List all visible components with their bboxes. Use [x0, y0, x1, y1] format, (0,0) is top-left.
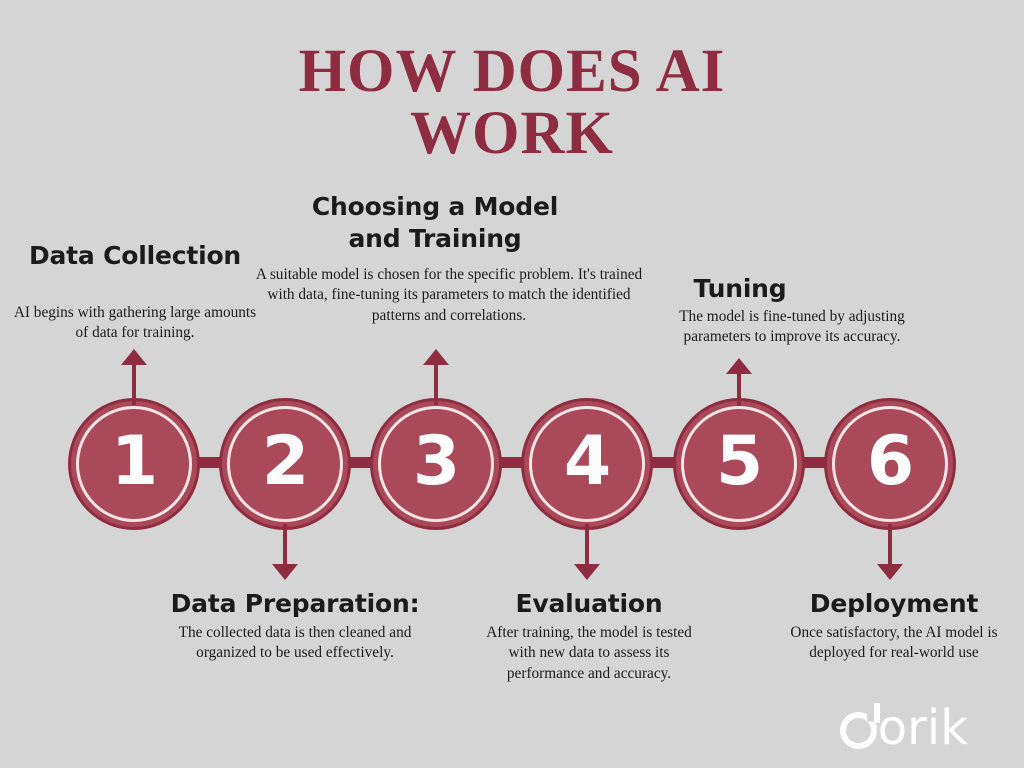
step-number-3: 3 [413, 428, 459, 496]
step-5-body: The model is fine-tuned by adjusting par… [645, 307, 939, 348]
arrow-stem [888, 524, 892, 566]
step-1-body: AI begins with gathering large amounts o… [6, 303, 264, 344]
arrow-head [272, 564, 298, 580]
arrow-head [574, 564, 600, 580]
step-circle-3[interactable]: 3 [370, 398, 502, 530]
step-3-body: A suitable model is chosen for the speci… [249, 265, 649, 326]
page-title: How Does AI Work [0, 42, 1024, 164]
infographic-canvas: How Does AI Work Data Collection AI begi… [0, 0, 1024, 768]
arrow-stem [585, 524, 589, 566]
step-6-body: Once satisfactory, the AI model is deplo… [781, 623, 1007, 664]
step-number-6: 6 [867, 428, 913, 496]
step-number-1: 1 [111, 428, 157, 496]
arrow-up-icon-step-5 [726, 358, 752, 406]
step-2-heading: Data Preparation: [165, 588, 425, 620]
arrow-down-icon-step-6 [877, 524, 903, 580]
step-circle-4[interactable]: 4 [521, 398, 653, 530]
step-6-heading: Deployment [777, 588, 1011, 620]
arrow-head [877, 564, 903, 580]
step-circle-2[interactable]: 2 [219, 398, 351, 530]
step-1-heading: Data Collection [18, 240, 252, 272]
step-4-body: After training, the model is tested with… [476, 623, 702, 684]
arrow-up-icon-step-1 [121, 349, 147, 405]
page-title-line-1: How Does AI [0, 42, 1024, 102]
step-number-2: 2 [262, 428, 308, 496]
arrow-stem [434, 363, 438, 405]
step-5-heading: Tuning [640, 273, 840, 305]
page-title-line-2: Work [0, 104, 1024, 164]
step-3-heading-line-1: Choosing a Model [312, 192, 558, 221]
dorik-logo-mark-icon [840, 703, 880, 749]
step-timeline: 1 2 3 4 5 6 [0, 398, 1024, 530]
step-4-heading: Evaluation [472, 588, 706, 620]
logo-ring [840, 712, 877, 749]
arrow-stem [132, 363, 136, 405]
step-circle-5[interactable]: 5 [673, 398, 805, 530]
arrow-down-icon-step-4 [574, 524, 600, 580]
step-circle-1[interactable]: 1 [68, 398, 200, 530]
step-2-body: The collected data is then cleaned and o… [163, 623, 427, 664]
step-circle-6[interactable]: 6 [824, 398, 956, 530]
step-3-heading: Choosing a Model and Training [300, 191, 570, 255]
arrow-down-icon-step-2 [272, 524, 298, 580]
step-number-5: 5 [716, 428, 762, 496]
step-3-heading-line-2: and Training [348, 224, 521, 253]
arrow-up-icon-step-3 [423, 349, 449, 405]
arrow-stem [737, 372, 741, 406]
arrow-stem [283, 524, 287, 566]
dorik-logo[interactable]: orik [840, 702, 968, 750]
step-number-4: 4 [564, 428, 610, 496]
dorik-logo-text: orik [878, 704, 968, 752]
